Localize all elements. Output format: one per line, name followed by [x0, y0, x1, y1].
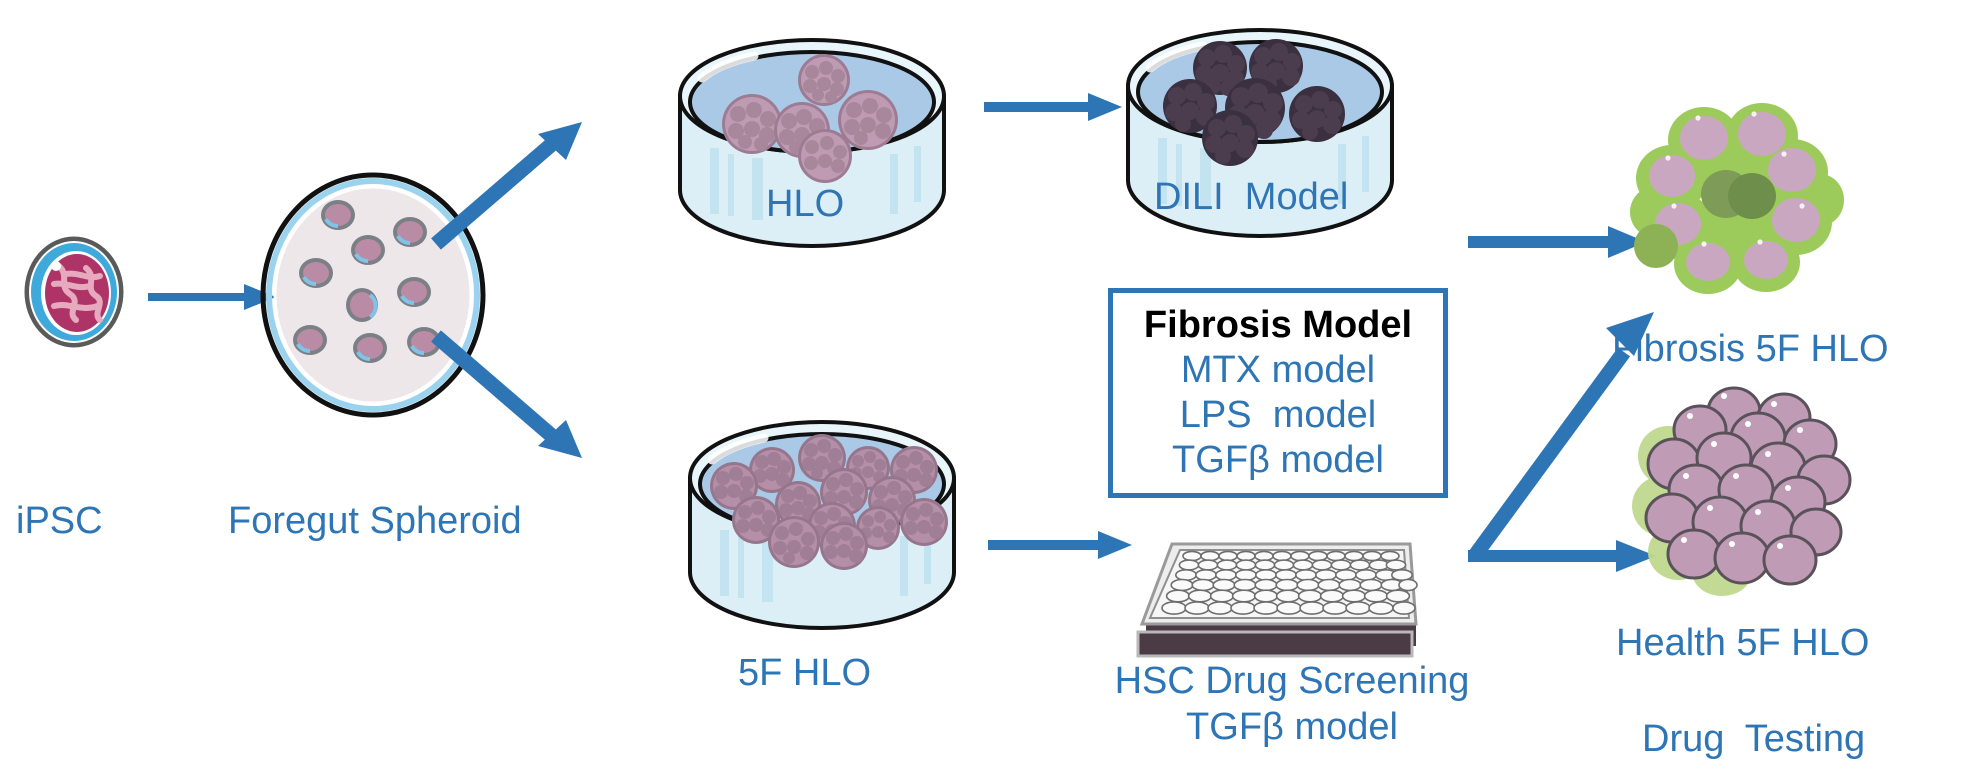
health-organoid-icon [1638, 386, 1853, 596]
fibrosis-model-title: Fibrosis Model [1144, 303, 1412, 348]
arrow-box-to-fibrosis-organoid [1468, 222, 1648, 262]
arrow-plate-to-health-organoid [1468, 536, 1658, 576]
arrow-hlo-to-dili [984, 90, 1124, 124]
arrow-5f-hlo-to-plate [988, 528, 1134, 562]
label-health-5f-hlo: Health 5F HLO [1616, 622, 1869, 665]
label-fibrosis-5f-hlo: Fibrosis 5F HLO [1612, 328, 1889, 371]
label-drug-testing: Drug Testing [1642, 718, 1865, 761]
label-hsc-drug-screening: HSC Drug Screening [1082, 660, 1502, 703]
arrow-spheroid-to-5f-hlo [430, 330, 590, 460]
diagram-canvas: iPSC Foregut Spheroid [0, 0, 1968, 774]
label-dili-model: DILI Model [1154, 176, 1348, 219]
fibrosis-model-item-tgfb: TGFβ model [1172, 438, 1384, 483]
ipsc-colony-icon [14, 232, 134, 352]
fibrosis-model-box: Fibrosis Model MTX model LPS model TGFβ … [1108, 288, 1448, 498]
label-ipsc: iPSC [16, 500, 103, 543]
label-hsc-tgfb-model: TGFβ model [1082, 706, 1502, 749]
fibrosis-model-item-lps: LPS model [1180, 393, 1376, 438]
label-foregut-spheroid: Foregut Spheroid [228, 500, 522, 543]
five-f-hlo-petri-dish-icon [672, 408, 972, 628]
label-hlo: HLO [766, 183, 844, 226]
arrow-spheroid-to-hlo [430, 120, 590, 250]
label-5f-hlo: 5F HLO [738, 652, 871, 695]
96-well-plate-icon [1128, 528, 1428, 668]
fibrosis-organoid-icon [1634, 96, 1844, 296]
fibrosis-model-item-mtx: MTX model [1181, 348, 1375, 393]
